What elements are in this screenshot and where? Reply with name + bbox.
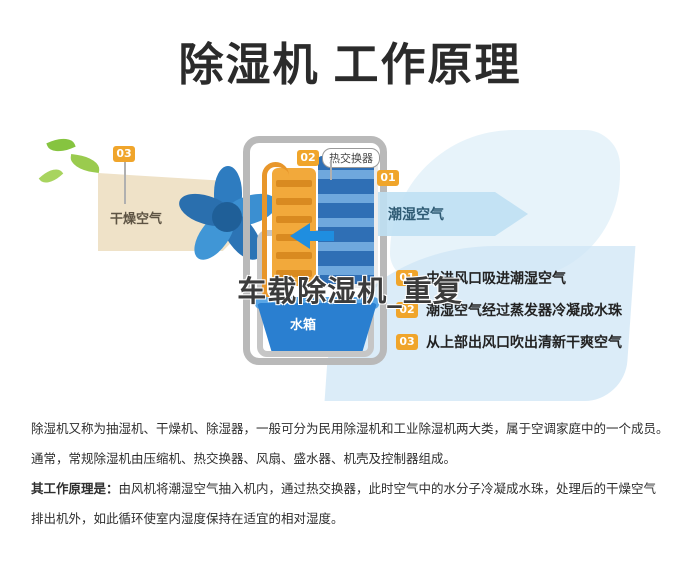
lead-line — [330, 162, 332, 180]
water-tank — [257, 303, 377, 351]
water-tank-label: 水箱 — [290, 314, 316, 333]
badge-01-callout: 01 — [377, 170, 399, 186]
evaporator-fin — [318, 218, 374, 227]
legend-badge-03: 03 — [396, 334, 418, 350]
watermark-text: 车载除湿机_重复 — [0, 268, 700, 310]
fan-hub — [212, 202, 242, 232]
lead-line — [124, 162, 126, 204]
badge-03-callout: 03 — [113, 146, 135, 162]
dry-air-label: 干燥空气 — [110, 208, 162, 227]
diagram-illustration: 干燥空气 03 — [0, 118, 700, 408]
airflow-arrow-head — [290, 223, 310, 249]
leaf-icon — [46, 134, 75, 157]
leaf-icon — [39, 164, 64, 187]
body-copy: 除湿机又称为抽湿机、干燥机、除湿器，一般可分为民用除湿机和工业除湿机两大类，属于… — [31, 418, 676, 538]
leaf-icon — [69, 154, 101, 173]
legend-text-03: 从上部出风口吹出清新干爽空气 — [426, 332, 622, 352]
body-paragraph-3: 其工作原理是：由风机将潮湿空气抽入机内，通过热交换器，此时空气中的水分子冷凝成水… — [31, 478, 676, 500]
page-title: 除湿机工作原理 — [0, 28, 700, 93]
bottom-spacer — [0, 556, 700, 566]
humid-air-label: 潮湿空气 — [388, 204, 444, 224]
evaporator-fin — [318, 242, 374, 251]
body-paragraph-4: 排出机外，如此循环使室内湿度保持在适宜的相对湿度。 — [31, 508, 676, 530]
infographic-page: 除湿机工作原理 干燥空气 03 — [0, 0, 700, 566]
body-paragraph-2: 通常，常规除湿机由压缩机、热交换器、风扇、盛水器、机壳及控制器组成。 — [31, 448, 676, 470]
body-paragraph-3-label: 其工作原理是： — [31, 481, 119, 496]
evaporator-fin — [318, 194, 374, 203]
badge-02-callout: 02 — [297, 150, 319, 166]
page-title-part2: 工作原理 — [334, 38, 522, 91]
body-paragraph-3-text: 由风机将潮湿空气抽入机内，通过热交换器，此时空气中的水分子冷凝成水珠，处理后的干… — [119, 481, 657, 496]
legend-item: 03 从上部出风口吹出清新干爽空气 — [396, 332, 686, 352]
airflow-arrow-shaft — [308, 231, 334, 241]
evaporator-block — [318, 156, 374, 284]
evaporator-fin — [318, 170, 374, 179]
page-title-part1: 除湿机 — [178, 38, 319, 91]
body-paragraph-1: 除湿机又称为抽湿机、干燥机、除湿器，一般可分为民用除湿机和工业除湿机两大类，属于… — [31, 418, 676, 440]
